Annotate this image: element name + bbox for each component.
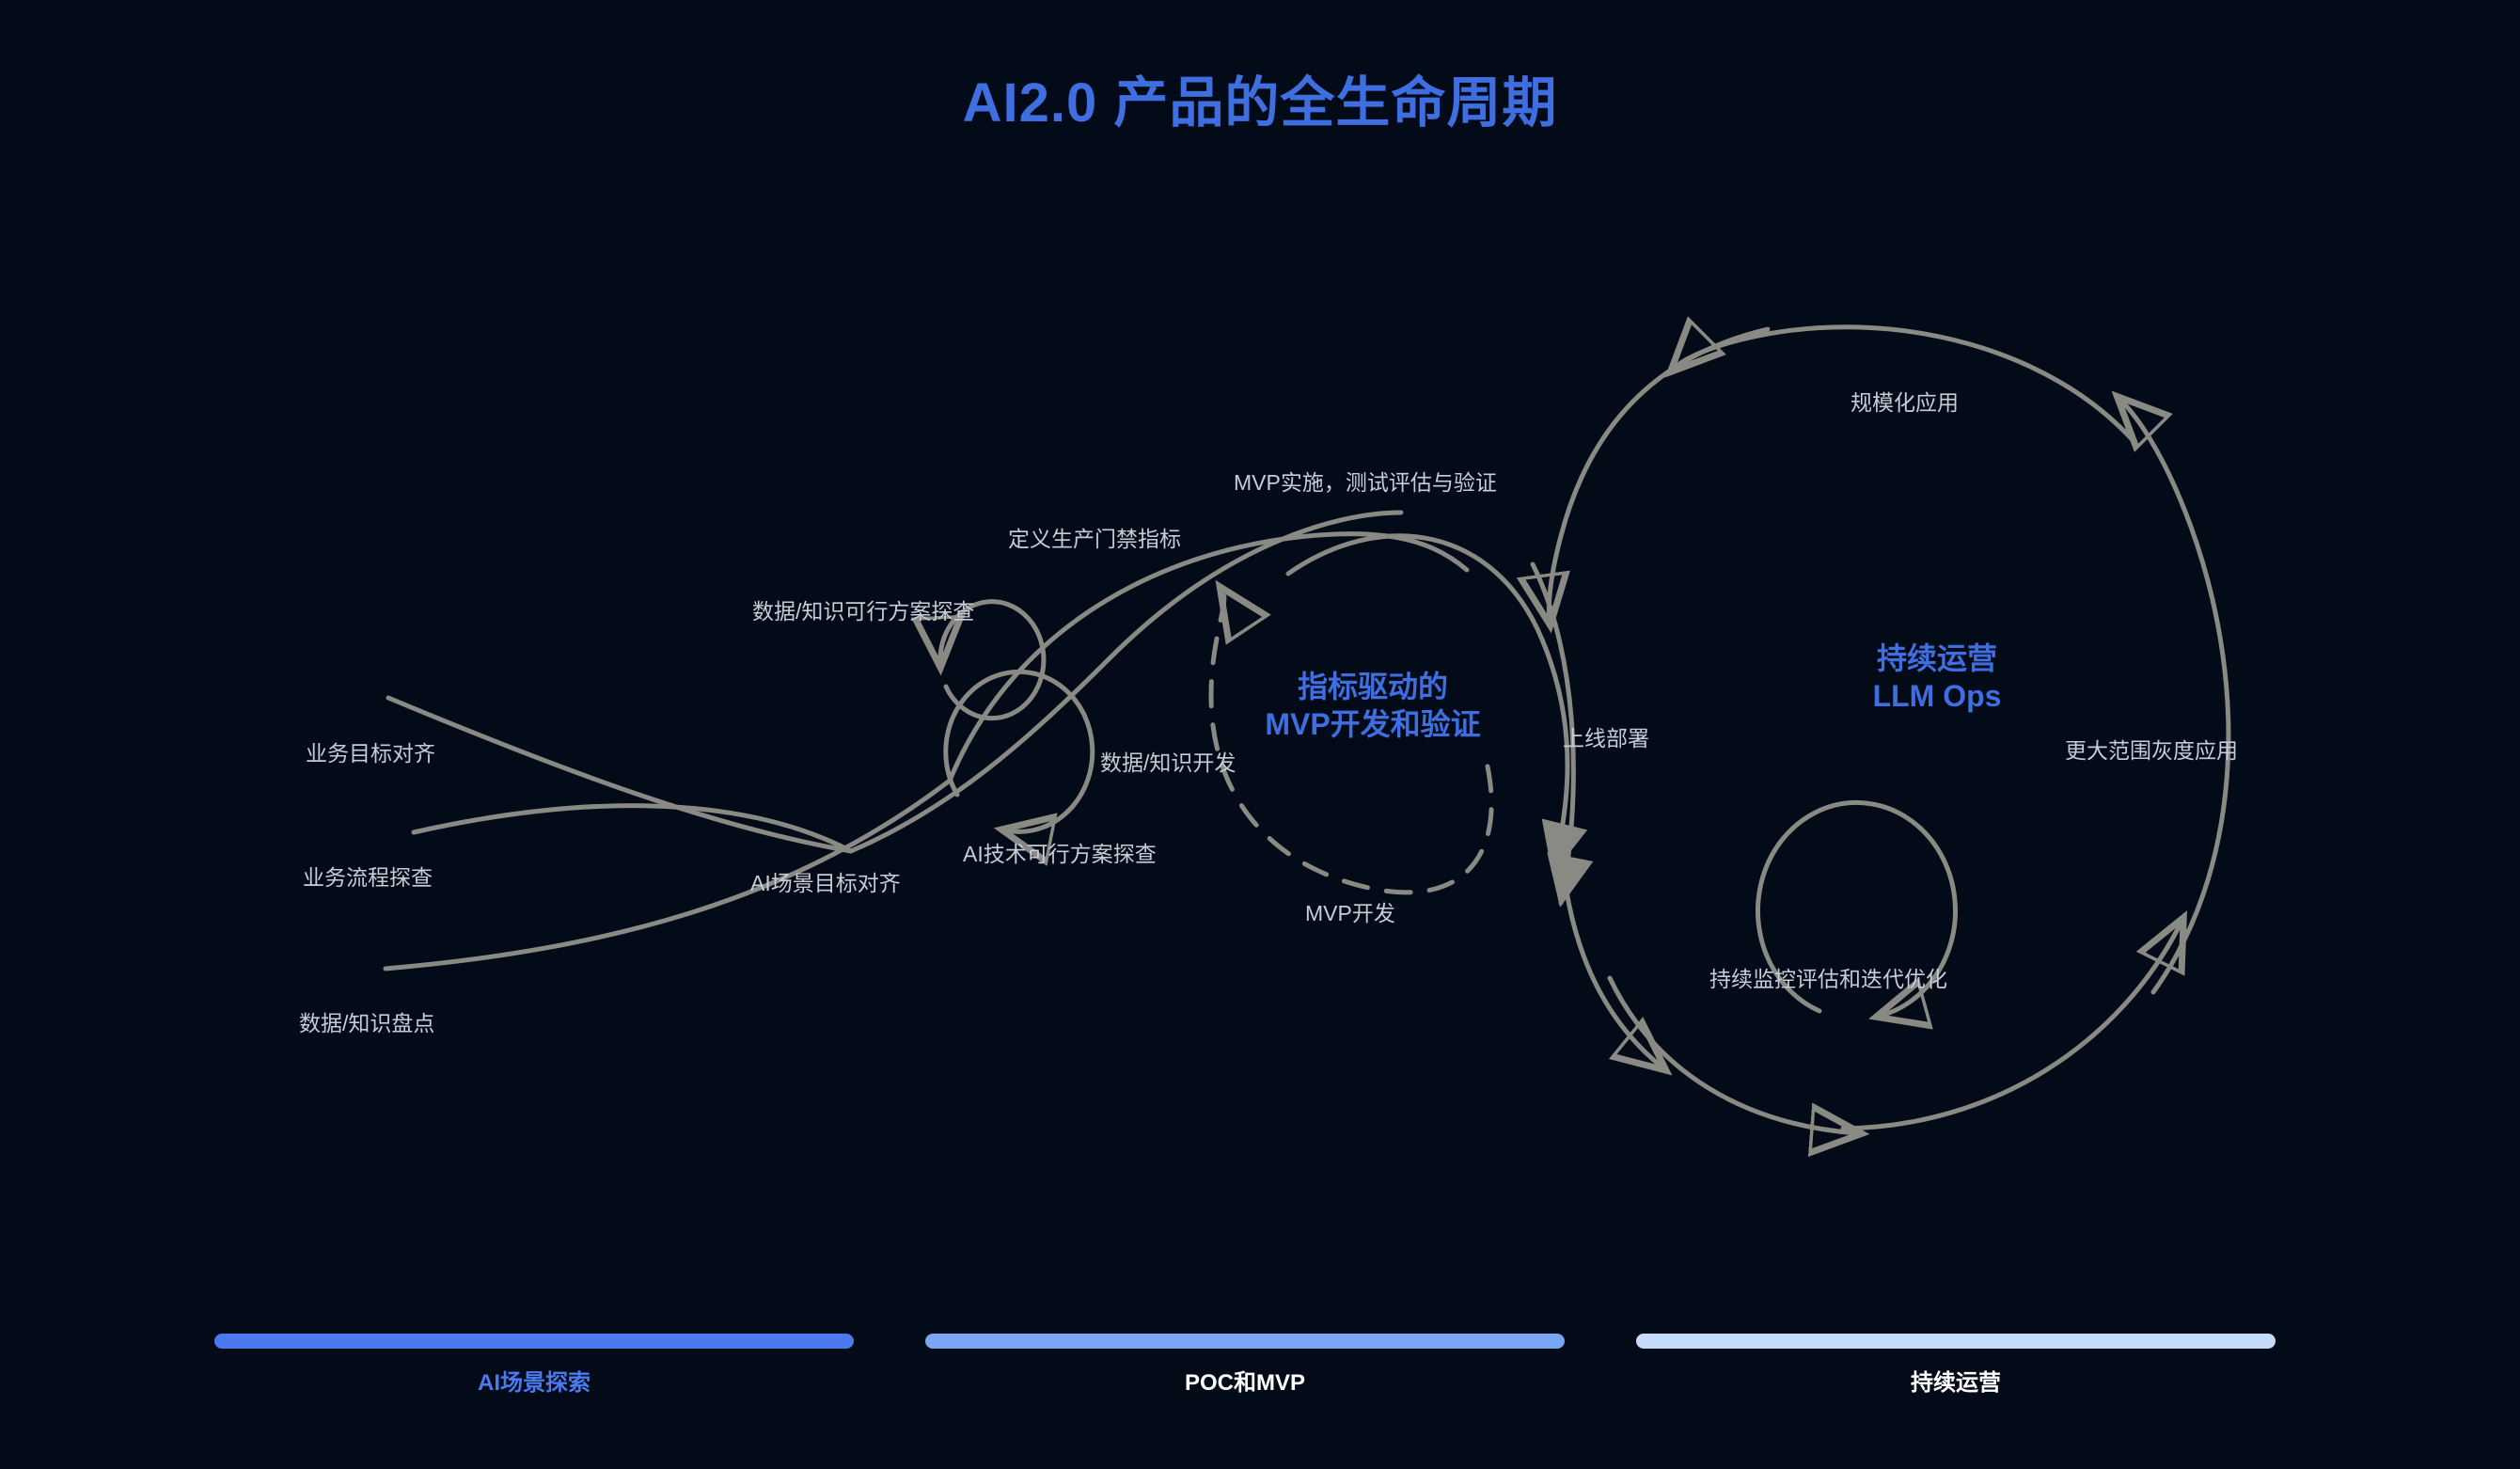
legend-label-continuous-operation: 持续运营	[1636, 1364, 2276, 1397]
center-label-ops-line1: 持续运营	[1787, 640, 2087, 677]
label-mvp-implementation-test: MVP实施，测试评估与验证	[1234, 470, 1497, 497]
legend-bar-ai-scenario-exploration[interactable]	[214, 1334, 854, 1349]
center-label-mvp-line2: MVP开发和验证	[1232, 705, 1514, 743]
center-label-ops-line2: LLM Ops	[1787, 677, 2087, 715]
label-data-knowledge-development: 数据/知识开发	[1100, 750, 1236, 777]
label-business-goal-alignment: 业务目标对齐	[306, 741, 435, 767]
circle-ai-tech-feasibility	[946, 671, 1093, 831]
label-define-production-gate-metrics: 定义生产门禁指标	[1008, 527, 1181, 553]
legend-label-ai-scenario-exploration: AI场景探索	[214, 1364, 854, 1397]
label-wider-canary-application: 更大范围灰度应用	[2065, 738, 2238, 765]
label-ai-scenario-goal-alignment: AI场景目标对齐	[750, 871, 901, 897]
curve-wider-canary-application	[1843, 922, 2181, 1129]
curve-ops-right	[2120, 400, 2229, 992]
label-online-deployment: 上线部署	[1563, 726, 1649, 752]
legend-bar-poc-mvp[interactable]	[925, 1334, 1565, 1349]
center-label-mvp: 指标驱动的 MVP开发和验证	[1232, 668, 1514, 743]
legend-bar-continuous-operation[interactable]	[1636, 1334, 2276, 1349]
label-mvp-development: MVP开发	[1305, 901, 1395, 927]
curve-business-goal-alignment	[388, 698, 851, 851]
label-data-knowledge-inventory: 数据/知识盘点	[299, 1011, 434, 1037]
curve-business-process-survey	[414, 806, 851, 851]
label-data-knowledge-feasibility: 数据/知识可行方案探查	[752, 599, 974, 625]
label-ai-tech-feasibility: AI技术可行方案探查	[963, 842, 1157, 868]
label-scaled-application: 规模化应用	[1851, 390, 1959, 417]
label-business-process-survey: 业务流程探查	[303, 865, 433, 892]
legend-label-poc-mvp: POC和MVP	[925, 1364, 1565, 1397]
curve-scaled-application	[1674, 327, 2134, 442]
curve-ops-top-left	[1549, 329, 1768, 621]
center-label-mvp-line1: 指标驱动的	[1232, 668, 1514, 705]
center-label-ops: 持续运营 LLM Ops	[1787, 640, 2087, 715]
slide-canvas: AI2.0 产品的全生命周期	[0, 0, 2520, 1469]
label-continuous-monitoring: 持续监控评估和迭代优化	[1709, 967, 1947, 993]
curve-define-production-gate-metrics	[950, 534, 1467, 781]
